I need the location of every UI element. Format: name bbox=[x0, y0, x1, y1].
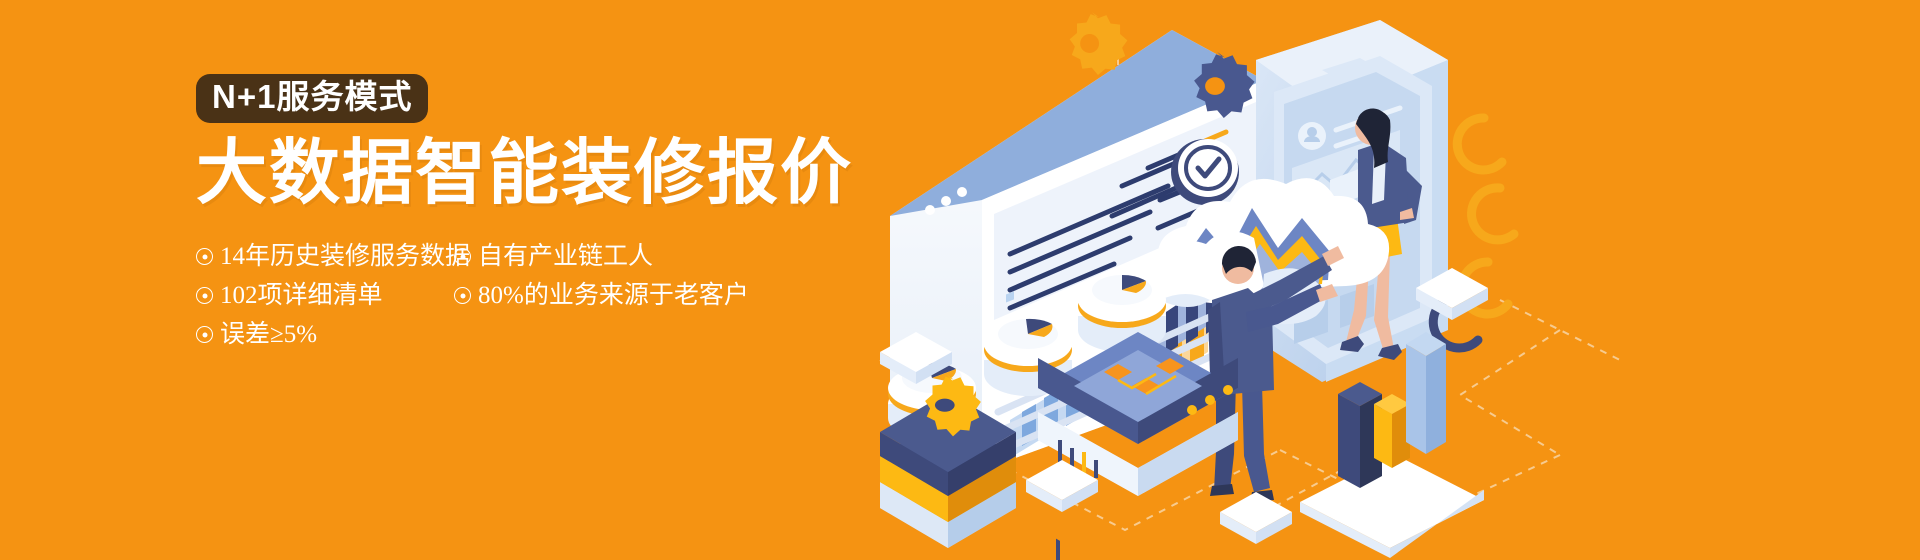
list-item-label: 102项详细清单 bbox=[220, 283, 383, 308]
bullet-dot-icon bbox=[196, 248, 213, 265]
list-item-label: 80%的业务来源于老客户 bbox=[478, 283, 749, 308]
list-item-label: 自有产业链工人 bbox=[478, 244, 653, 269]
bullet-dot-icon bbox=[454, 248, 471, 265]
service-model-badge: N+1服务模式 bbox=[196, 74, 428, 123]
bullet-dot-icon bbox=[454, 287, 471, 304]
list-item: 14年历史装修服务数据 bbox=[196, 237, 454, 276]
list-item: 80%的业务来源于老客户 bbox=[454, 276, 726, 315]
promo-banner: N+1服务模式 大数据智能装修报价 14年历史装修服务数据 自有产业链工人 10… bbox=[0, 0, 1920, 560]
bullet-dot-icon bbox=[196, 326, 213, 343]
list-item: 102项详细清单 bbox=[196, 276, 454, 315]
bullet-dot-icon bbox=[196, 287, 213, 304]
list-item-label: 14年历史装修服务数据 bbox=[220, 244, 470, 269]
list-item: 自有产业链工人 bbox=[454, 237, 726, 276]
big-data-illustration bbox=[860, 0, 1920, 560]
check-badge-icon bbox=[1171, 139, 1239, 205]
list-item-label: 误差≥5% bbox=[220, 322, 317, 347]
page-title: 大数据智能装修报价 bbox=[196, 137, 856, 212]
banner-text-block: N+1服务模式 大数据智能装修报价 14年历史装修服务数据 自有产业链工人 10… bbox=[196, 74, 856, 354]
list-item: 误差≥5% bbox=[196, 315, 454, 354]
feature-bullet-list: 14年历史装修服务数据 自有产业链工人 102项详细清单 80%的业务来源于老客… bbox=[196, 237, 726, 354]
